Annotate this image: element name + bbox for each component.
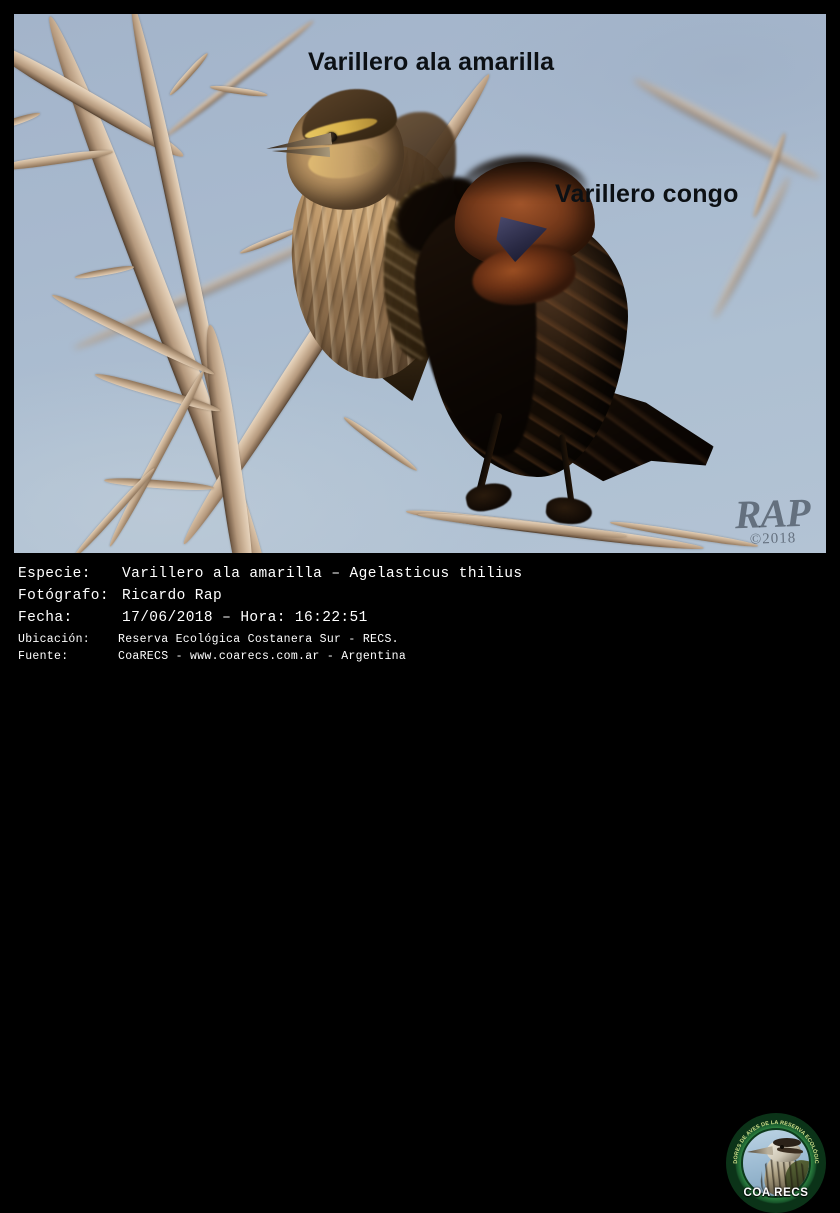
caption-key-fotografo: Fotógrafo: [18, 588, 122, 604]
caption-key-fuente: Fuente: [18, 650, 118, 663]
watermark-signature: RAP [734, 493, 810, 536]
caption-row-fotografo: Fotógrafo:Ricardo Rap [18, 588, 222, 604]
caption-row-fuente: Fuente:CoaRECS - www.coarecs.com.ar - Ar… [18, 650, 406, 663]
photo-label-yellow-winged: Varillero ala amarilla [308, 48, 554, 77]
image-root: Varillero ala amarilla Varillero congo R… [0, 0, 840, 668]
caption-key-fecha: Fecha: [18, 610, 122, 626]
photo-label-chestnut-capped: Varillero congo [555, 180, 739, 209]
caption-value-especie: Varillero ala amarilla – Agelasticus thi… [122, 566, 522, 582]
logo-acronym: COA RECS [726, 1187, 826, 1199]
caption-bar: Especie:Varillero ala amarilla – Agelast… [0, 553, 840, 668]
caption-value-fecha: 17/06/2018 – Hora: 16:22:51 [122, 610, 368, 626]
caption-key-especie: Especie: [18, 566, 122, 582]
coa-recs-logo: CLUB DE OBSERVADORES DE AVES DE LA RESER… [726, 1113, 826, 1213]
photograph: Varillero ala amarilla Varillero congo R… [14, 14, 826, 553]
caption-row-ubicacion: Ubicación:Reserva Ecológica Costanera Su… [18, 633, 399, 646]
bird-b-foot-right [545, 496, 593, 527]
logo-bird-cap [773, 1138, 801, 1147]
caption-value-ubicacion: Reserva Ecológica Costanera Sur - RECS. [118, 633, 399, 646]
caption-value-fotografo: Ricardo Rap [122, 588, 222, 604]
logo-bird-eye [780, 1145, 784, 1149]
photographer-watermark: RAP ©2018 [734, 493, 811, 549]
caption-row-especie: Especie:Varillero ala amarilla – Agelast… [18, 566, 522, 582]
caption-key-ubicacion: Ubicación: [18, 633, 118, 646]
caption-row-fecha: Fecha:17/06/2018 – Hora: 16:22:51 [18, 610, 368, 626]
bird-chestnut-capped-blackbird [414, 154, 714, 544]
bird-b-foot-left [464, 480, 514, 515]
caption-value-fuente: CoaRECS - www.coarecs.com.ar - Argentina [118, 650, 406, 663]
